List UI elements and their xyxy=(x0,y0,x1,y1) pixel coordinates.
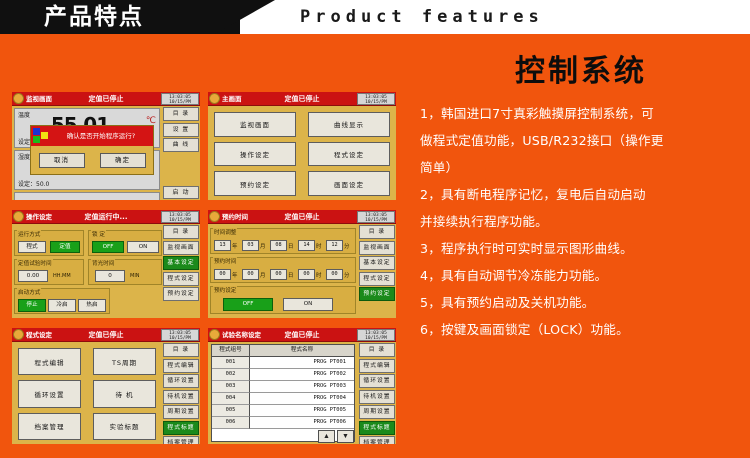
nav-button-reservation-set[interactable]: 预约设定 xyxy=(163,287,199,301)
cell-group-id: 001 xyxy=(212,357,250,369)
group-reserve-time-title: 预约时间 xyxy=(213,257,237,265)
section-heading: 控制系统 xyxy=(420,46,742,90)
panel-side-nav: 目 录 监视画面 基本设定 程式设定 预约设定 xyxy=(162,224,200,318)
backlight-unit: MIN xyxy=(130,273,140,279)
clock-display: 13:03:05 10/15/PM xyxy=(357,93,395,105)
nav-button-basic-set[interactable]: 基本设定 xyxy=(163,256,199,270)
status-strip xyxy=(14,192,160,202)
windows-squares-icon xyxy=(33,128,49,144)
lock-off-button[interactable]: OFF xyxy=(92,241,124,253)
program-button-file-manage[interactable]: 档案管理 xyxy=(18,413,81,440)
test-time-unit: HH.MM xyxy=(53,273,71,279)
cell-program-name: PROG PT004 xyxy=(250,393,354,405)
adjust-minute-field[interactable]: 12 xyxy=(326,240,343,251)
hmi-panel-program-settings: 程式设定 定值已停止 13:03:05 10/15/PM 程式编辑 TS周期 循… xyxy=(10,326,202,446)
reserve-hour-field[interactable]: 00 xyxy=(298,269,315,280)
feature-text-column: 控制系统 1，韩国进口7寸真彩触摸屏控制系统，可 做程式定值功能，USB/R23… xyxy=(420,40,742,454)
group-time-adjust-title: 时间调整 xyxy=(213,228,237,236)
table-row[interactable]: 006 PROG PT006 xyxy=(212,417,354,429)
cell-program-name: PROG PT005 xyxy=(250,405,354,417)
panel-titlebar: 程式设定 定值已停止 13:03:05 10/15/PM xyxy=(12,328,200,342)
cell-program-name: PROG PT001 xyxy=(250,357,354,369)
nav-button-file-manage[interactable]: 档案管理 xyxy=(163,436,199,446)
table-header-row: 程式组号 程式名称 xyxy=(212,345,354,357)
menu-button-program-set[interactable]: 程式设定 xyxy=(308,142,390,167)
cell-group-id: 003 xyxy=(212,381,250,393)
cell-group-id: 005 xyxy=(212,405,250,417)
hmi-screenshot-grid: 监视画面 定值已停止 13:03:05 10/15/PM 温度 55.01 ℃ … xyxy=(10,90,402,446)
hmi-panel-monitor: 监视画面 定值已停止 13:03:05 10/15/PM 温度 55.01 ℃ … xyxy=(10,90,202,202)
nav-button-program-title[interactable]: 程式标题 xyxy=(163,421,199,435)
reserve-minute-unit: 分 xyxy=(344,271,349,279)
reserve-month-field[interactable]: 00 xyxy=(242,269,259,280)
nav-button-settings[interactable]: 设 置 xyxy=(163,123,199,137)
dialog-titlebar: 确认是否开始程序运行? xyxy=(31,126,153,146)
group-reserve-set-title: 预约设定 xyxy=(213,286,237,294)
table-row[interactable]: 003 PROG PT003 xyxy=(212,381,354,393)
nav-button-menu[interactable]: 目 录 xyxy=(163,225,199,239)
panel-titlebar: 预约时间 定值已停止 13:03:05 10/15/PM xyxy=(208,210,396,224)
test-time-value[interactable]: 0.00 xyxy=(18,270,48,282)
program-button-test-title[interactable]: 实验标题 xyxy=(93,413,156,440)
nav-button-cycle-set[interactable]: 周期设置 xyxy=(359,405,395,419)
hmi-panel-test-name-settings: 试验名称设定 定值已停止 13:03:05 10/15/PM 程式组号 程式名称… xyxy=(206,326,398,446)
confirm-dialog: 确认是否开始程序运行? 取消 确定 xyxy=(30,125,154,175)
nav-button-cycle-set[interactable]: 周期设置 xyxy=(163,405,199,419)
panel-titlebar: 监视画面 定值已停止 13:03:05 10/15/PM xyxy=(12,92,200,106)
nav-button-curve[interactable]: 曲 线 xyxy=(163,138,199,152)
dialog-message: 确认是否开始程序运行? xyxy=(51,126,151,146)
dialog-cancel-button[interactable]: 取消 xyxy=(39,153,85,168)
start-mode-hot-button[interactable]: 热启 xyxy=(78,299,106,312)
feature-line: 1，韩国进口7寸真彩触摸屏控制系统，可 xyxy=(420,100,742,127)
clock-display: 13:03:05 10/15/PM xyxy=(161,329,199,341)
nav-button-reservation-set[interactable]: 预约设定 xyxy=(359,287,395,301)
adjust-hour-field[interactable]: 14 xyxy=(298,240,315,251)
group-test-time: 定值试验时间 0.00 HH.MM xyxy=(14,259,84,285)
cell-program-name: PROG PT006 xyxy=(250,417,354,429)
group-reserve-set: 预约设定 OFF ON xyxy=(210,286,356,314)
group-lock: 锁 定 OFF ON xyxy=(88,230,162,256)
nav-button-monitor[interactable]: 监视画面 xyxy=(163,241,199,255)
nav-button-menu[interactable]: 目 录 xyxy=(359,343,395,357)
nav-button-program-edit[interactable]: 程式编辑 xyxy=(359,359,395,373)
nav-button-monitor[interactable]: 监视画面 xyxy=(359,241,395,255)
clock-display: 13:03:05 10/15/PM xyxy=(357,211,395,223)
reserve-off-button[interactable]: OFF xyxy=(223,298,273,311)
nav-button-loop-set[interactable]: 循环设置 xyxy=(163,374,199,388)
menu-button-curve-display[interactable]: 曲线显示 xyxy=(308,112,390,137)
humidity-setpoint: 设定：50.0 xyxy=(18,179,49,188)
program-button-grid: 程式编辑 TS周期 循环设置 待 机 档案管理 实验标题 xyxy=(18,348,156,440)
nav-button-standby-set[interactable]: 待机设置 xyxy=(163,390,199,404)
program-button-ts-cycle[interactable]: TS周期 xyxy=(93,348,156,375)
column-header-group-id: 程式组号 xyxy=(212,345,250,357)
group-start-mode-title: 启动方式 xyxy=(17,288,41,296)
group-lock-title: 锁 定 xyxy=(91,230,106,238)
feature-line: 2，具有断电程序记忆，复电后自动启动 xyxy=(420,181,742,208)
group-reserve-time: 预约时间 00 年 00 月 00 日 00 时 00 分 xyxy=(210,257,356,283)
panel-titlebar: 操作设定 定值运行中... 13:03:05 10/15/PM xyxy=(12,210,200,224)
cell-group-id: 006 xyxy=(212,417,250,429)
feature-line: 并接续执行程序功能。 xyxy=(420,208,742,235)
cell-group-id: 004 xyxy=(212,393,250,405)
clock-display: 13:03:05 10/15/PM xyxy=(357,329,395,341)
hmi-panel-operation-settings: 操作设定 定值运行中... 13:03:05 10/15/PM 运行方式 程式 … xyxy=(10,208,202,320)
menu-button-operation-set[interactable]: 操作设定 xyxy=(214,142,296,167)
program-button-loop-set[interactable]: 循环设置 xyxy=(18,380,81,407)
adjust-year-field[interactable]: 13 xyxy=(214,240,231,251)
table-row[interactable]: 005 PROG PT005 xyxy=(212,405,354,417)
feature-line: 4，具有自动调节冷冻能力功能。 xyxy=(420,262,742,289)
menu-button-screen-set[interactable]: 画面设定 xyxy=(308,171,390,196)
nav-button-menu[interactable]: 目 录 xyxy=(163,107,199,121)
dialog-confirm-button[interactable]: 确定 xyxy=(100,153,146,168)
feature-line: 简单） xyxy=(420,154,742,181)
group-start-mode: 启动方式 停止 冷启 热启 xyxy=(14,288,110,314)
group-backlight-title: 背光时间 xyxy=(91,259,115,267)
lock-on-button[interactable]: ON xyxy=(127,241,159,253)
program-button-standby[interactable]: 待 机 xyxy=(93,380,156,407)
nav-button-loop-set[interactable]: 循环设置 xyxy=(359,374,395,388)
nav-button-program-edit[interactable]: 程式编辑 xyxy=(163,359,199,373)
group-backlight: 背光时间 0 MIN xyxy=(88,259,162,285)
menu-button-monitor[interactable]: 监视画面 xyxy=(214,112,296,137)
adjust-month-field[interactable]: 03 xyxy=(242,240,259,251)
reserve-on-button[interactable]: ON xyxy=(283,298,333,311)
page-header: 产品特点 Product features xyxy=(0,0,750,34)
program-button-edit[interactable]: 程式编辑 xyxy=(18,348,81,375)
program-name-table: 程式组号 程式名称 001 PROG PT001 002 PROG PT002 … xyxy=(211,344,355,442)
nav-button-program-set[interactable]: 程式设定 xyxy=(163,272,199,286)
feature-line: 6，按键及画面锁定（LOCK）功能。 xyxy=(420,316,742,343)
adjust-day-unit: 日 xyxy=(288,242,293,250)
backlight-value[interactable]: 0 xyxy=(95,270,125,282)
reserve-year-field[interactable]: 00 xyxy=(214,269,231,280)
reserve-day-field[interactable]: 00 xyxy=(270,269,287,280)
cell-program-name: PROG PT002 xyxy=(250,369,354,381)
menu-button-reservation-set[interactable]: 预约设定 xyxy=(214,171,296,196)
panel-side-nav: 目 录 程式编辑 循环设置 待机设置 周期设置 程式标题 档案管理 xyxy=(358,342,396,444)
feature-line: 3，程序执行时可实时显示图形曲线。 xyxy=(420,235,742,262)
start-button[interactable]: 启 动 xyxy=(163,186,199,199)
header-title-cn: 产品特点 xyxy=(44,2,144,32)
adjust-day-field[interactable]: 08 xyxy=(270,240,287,251)
reserve-day-unit: 日 xyxy=(288,271,293,279)
start-mode-cold-button[interactable]: 冷启 xyxy=(48,299,76,312)
nav-button-basic-set[interactable]: 基本设定 xyxy=(359,256,395,270)
scroll-down-icon[interactable]: ▼ xyxy=(337,430,354,443)
header-accent-bar xyxy=(0,34,750,38)
table-row[interactable]: 001 PROG PT001 xyxy=(212,357,354,369)
group-run-mode-title: 运行方式 xyxy=(17,230,41,238)
reserve-minute-field[interactable]: 00 xyxy=(326,269,343,280)
feature-line: 5，具有预约启动及关机功能。 xyxy=(420,289,742,316)
panel-titlebar: 试验名称设定 定值已停止 13:03:05 10/15/PM xyxy=(208,328,396,342)
adjust-minute-unit: 分 xyxy=(344,242,349,250)
run-mode-program-button[interactable]: 程式 xyxy=(18,241,46,253)
nav-button-standby-set[interactable]: 待机设置 xyxy=(359,390,395,404)
reserve-month-unit: 月 xyxy=(260,271,265,279)
column-header-program-name: 程式名称 xyxy=(250,345,354,357)
clock-display: 13:03:05 10/15/PM xyxy=(161,211,199,223)
reserve-year-unit: 年 xyxy=(232,271,237,279)
group-run-mode: 运行方式 程式 定值 xyxy=(14,230,84,256)
hmi-panel-main-menu: 主画面 定值已停止 13:03:05 10/15/PM 监视画面 曲线显示 操作… xyxy=(206,90,398,202)
nav-button-file-manage[interactable]: 档案管理 xyxy=(359,436,395,446)
adjust-year-unit: 年 xyxy=(232,242,237,250)
hmi-panel-reservation-time: 预约时间 定值已停止 13:03:05 10/15/PM 时间调整 13 年 0… xyxy=(206,208,398,320)
cell-program-name: PROG PT003 xyxy=(250,381,354,393)
nav-button-program-title[interactable]: 程式标题 xyxy=(359,421,395,435)
nav-button-menu[interactable]: 目 录 xyxy=(163,343,199,357)
panel-side-nav: 目 录 监视画面 基本设定 程式设定 预约设定 xyxy=(358,224,396,318)
main-menu-button-grid: 监视画面 曲线显示 操作设定 程式设定 预约设定 画面设定 xyxy=(214,112,390,196)
reserve-hour-unit: 时 xyxy=(316,271,321,279)
scroll-up-icon[interactable]: ▲ xyxy=(318,430,335,443)
adjust-hour-unit: 时 xyxy=(316,242,321,250)
table-scroll-controls: ▲ ▼ xyxy=(318,430,354,443)
table-row[interactable]: 002 PROG PT002 xyxy=(212,369,354,381)
group-time-adjust: 时间调整 13 年 03 月 08 日 14 时 12 分 xyxy=(210,228,356,254)
group-test-time-title: 定值试验时间 xyxy=(17,259,53,267)
nav-button-menu[interactable]: 目 录 xyxy=(359,225,395,239)
table-row[interactable]: 004 PROG PT004 xyxy=(212,393,354,405)
header-title-en: Product features xyxy=(300,3,544,31)
clock-display: 13:03:05 10/15/PM xyxy=(161,93,199,105)
panel-side-nav: 目 录 程式编辑 循环设置 待机设置 周期设置 程式标题 档案管理 xyxy=(162,342,200,444)
start-mode-stop-button[interactable]: 停止 xyxy=(18,299,46,312)
feature-line: 做程式定值功能，USB/R232接口（操作更 xyxy=(420,127,742,154)
header-slant-shape xyxy=(215,0,275,34)
adjust-month-unit: 月 xyxy=(260,242,265,250)
panel-titlebar: 主画面 定值已停止 13:03:05 10/15/PM xyxy=(208,92,396,106)
run-mode-fixed-button[interactable]: 定值 xyxy=(50,241,80,253)
nav-button-program-set[interactable]: 程式设定 xyxy=(359,272,395,286)
cell-group-id: 002 xyxy=(212,369,250,381)
